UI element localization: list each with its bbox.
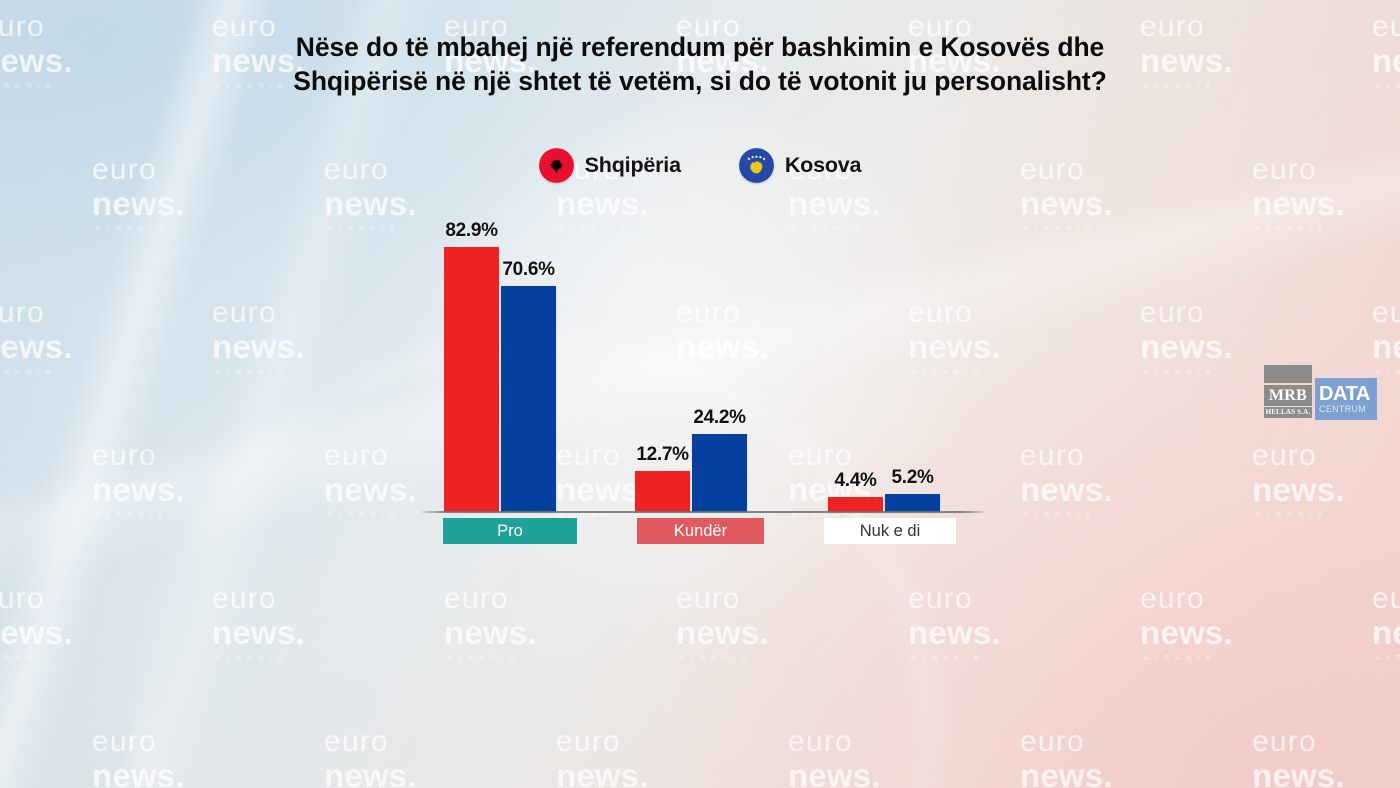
page-title-line-2: Shqipërisë në një shtet të vetëm, si do …: [0, 64, 1400, 98]
category-label-pro[interactable]: Pro: [443, 518, 577, 544]
category-label-kunder[interactable]: Kundër: [637, 518, 764, 544]
mrb-logo-topbar: [1264, 365, 1312, 383]
bar-wrap-kunder-shqiperia[interactable]: 12.7%: [635, 471, 690, 512]
bar-value-kunder-shqiperia: 12.7%: [636, 444, 688, 466]
bar-group-nuk-e-di: 4.4% 5.2%: [828, 494, 940, 512]
mrb-data-centrum-logo: MRB HELLAS S.A. DATA CENTRUM: [1264, 365, 1377, 420]
legend-item-shqiperia[interactable]: Shqipëria: [539, 148, 681, 183]
page-title: Nëse do të mbahej një referendum për bas…: [0, 30, 1400, 98]
bar-kunder-shqiperia[interactable]: [635, 471, 690, 512]
bar-nuk-shqiperia[interactable]: [828, 497, 883, 512]
poll-graphic: euronews.ALBANIAeuronews.ALBANIAeuronews…: [0, 0, 1400, 788]
bar-value-pro-kosova: 70.6%: [502, 259, 554, 281]
bar-wrap-kunder-kosova[interactable]: 24.2%: [692, 434, 747, 512]
chart-baseline-axis: [422, 511, 985, 513]
bar-wrap-pro-shqiperia[interactable]: 82.9%: [444, 247, 499, 512]
bar-wrap-pro-kosova[interactable]: 70.6%: [501, 286, 556, 512]
bar-wrap-nuk-shqiperia[interactable]: 4.4%: [828, 497, 883, 512]
mrb-logo-name: MRB: [1264, 385, 1312, 406]
bar-chart-plot: 82.9% 70.6% 12.7% 24.2% 4.4%: [422, 215, 985, 513]
data-centrum-centrum-text: CENTRUM: [1319, 404, 1377, 415]
bar-group-kunder: 12.7% 24.2%: [635, 434, 747, 512]
bar-value-pro-shqiperia: 82.9%: [445, 220, 497, 242]
bar-value-nuk-kosova: 5.2%: [891, 467, 933, 489]
bar-value-kunder-kosova: 24.2%: [693, 407, 745, 429]
bar-wrap-nuk-kosova[interactable]: 5.2%: [885, 494, 940, 512]
bar-pro-shqiperia[interactable]: [444, 247, 499, 512]
page-title-line-1: Nëse do të mbahej një referendum për bas…: [0, 30, 1400, 64]
bar-kunder-kosova[interactable]: [692, 434, 747, 512]
bar-nuk-kosova[interactable]: [885, 494, 940, 512]
mrb-logo-left: MRB HELLAS S.A.: [1264, 365, 1312, 420]
category-label-nuk-e-di[interactable]: Nuk e di: [824, 518, 956, 544]
legend-label-shqiperia: Shqipëria: [585, 153, 681, 178]
category-label-row: Pro Kundër Nuk e di: [422, 518, 985, 544]
mrb-logo-subtitle: HELLAS S.A.: [1264, 407, 1312, 418]
chart-legend: Shqipëria Kosova: [0, 148, 1400, 183]
bar-value-nuk-shqiperia: 4.4%: [834, 470, 876, 492]
albania-flag-icon: [539, 148, 574, 183]
legend-label-kosova: Kosova: [785, 153, 861, 178]
data-centrum-data-text: DATA: [1319, 384, 1377, 404]
bar-pro-kosova[interactable]: [501, 286, 556, 512]
legend-item-kosova[interactable]: Kosova: [739, 148, 861, 183]
bar-group-pro: 82.9% 70.6%: [444, 247, 556, 512]
data-centrum-logo-right: DATA CENTRUM: [1315, 378, 1377, 420]
kosovo-flag-icon: [739, 148, 774, 183]
